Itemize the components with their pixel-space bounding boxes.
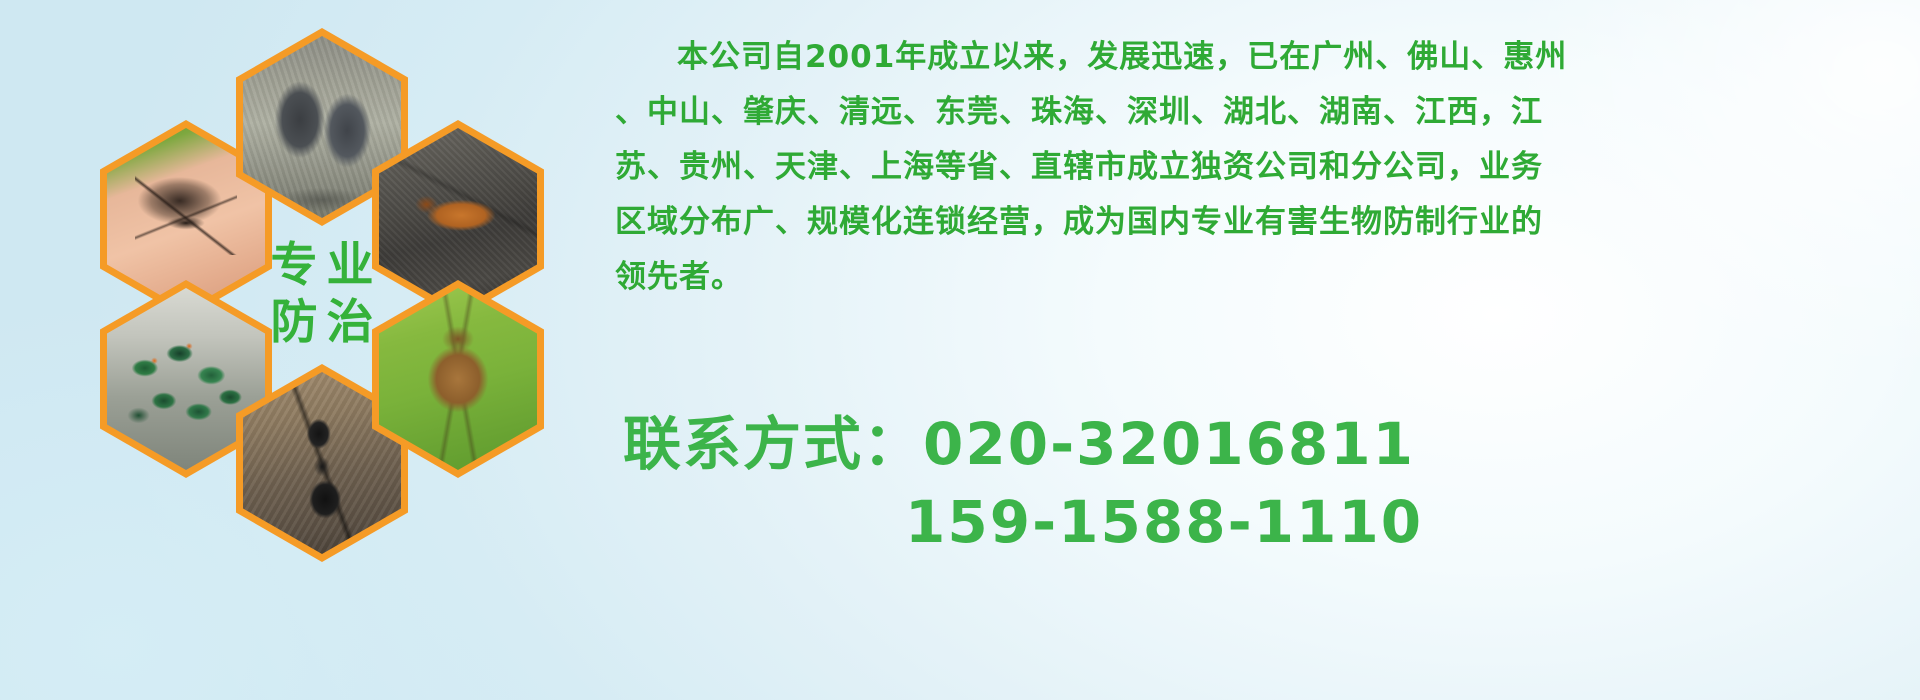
slogan-line-2: 防治 xyxy=(262,298,383,349)
intro-line-1-text: 本公司自2001年成立以来，发展迅速，已在广州、佛山、惠州 xyxy=(677,39,1567,75)
content-column: 本公司自2001年成立以来，发展迅速，已在广州、佛山、惠州 、中山、肇庆、清远、… xyxy=(615,30,1875,561)
intro-line-2: 、中山、肇庆、清远、东莞、珠海、深圳、湖北、湖南、江西，江 xyxy=(615,85,1875,140)
intro-line-1: 本公司自2001年成立以来，发展迅速，已在广州、佛山、惠州 xyxy=(615,30,1875,85)
company-intro-paragraph: 本公司自2001年成立以来，发展迅速，已在广州、佛山、惠州 、中山、肇庆、清远、… xyxy=(615,30,1875,305)
intro-line-5: 领先者。 xyxy=(615,250,1875,305)
contact-primary-line[interactable]: 联系方式：020-32016811 xyxy=(615,405,1875,483)
promo-banner: 专业 防治 本公司自2001年成立以来，发展迅速，已在广州、佛山、惠州 、中山、… xyxy=(0,0,1920,700)
slogan-line-1: 专业 xyxy=(262,241,383,292)
hexagon-photo-cluster: 专业 防治 xyxy=(88,8,588,568)
intro-line-3: 苏、贵州、天津、上海等省、直辖市成立独资公司和分公司，业务 xyxy=(615,140,1875,195)
contact-block: 联系方式：020-32016811 159-1588-1110 xyxy=(615,405,1875,561)
intro-line-4: 区域分布广、规模化连锁经营，成为国内专业有害生物防制行业的 xyxy=(615,195,1875,250)
contact-secondary-line[interactable]: 159-1588-1110 xyxy=(615,483,1875,561)
